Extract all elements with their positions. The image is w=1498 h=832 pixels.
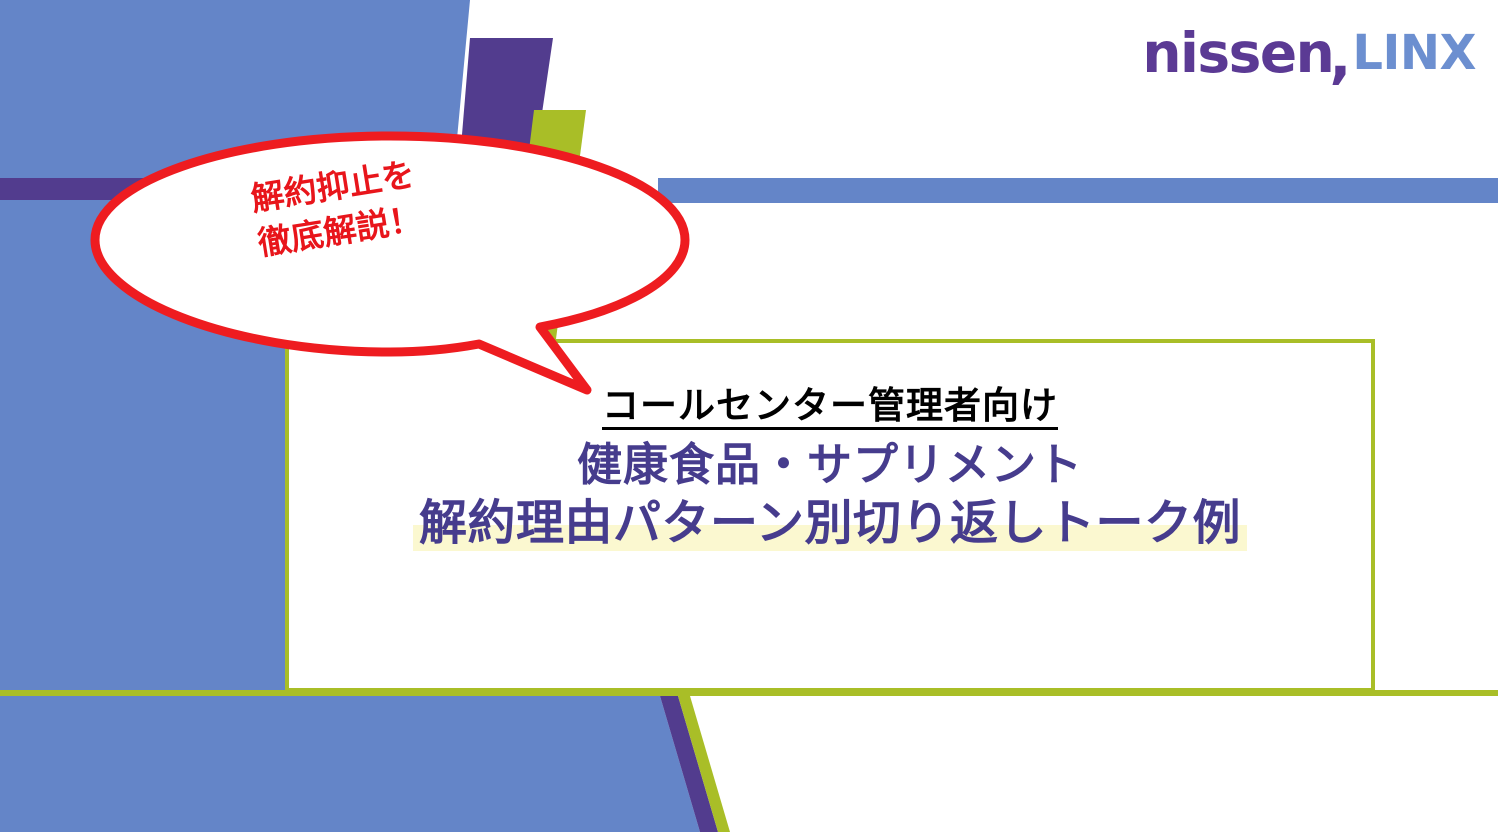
nissen-linx-logo: nissen,LINX <box>1086 22 1476 84</box>
title-line-main: 解約理由パターン別切り返しトーク例 <box>419 495 1241 551</box>
logo-comma-mark: , <box>1329 28 1351 86</box>
logo-word-linx: LINX <box>1352 29 1476 77</box>
title-line-audience: コールセンター管理者向け <box>602 385 1058 430</box>
blue-horizontal-band <box>658 178 1498 203</box>
blue-bottom-block <box>0 696 700 832</box>
logo-word-nissen: nissen <box>1142 26 1333 81</box>
title-line-category: 健康食品・サプリメント <box>577 440 1083 490</box>
title-line-main-wrapper: 解約理由パターン別切り返しトーク例 <box>419 497 1241 551</box>
slide-canvas: 解約抑止を 徹底解説！ コールセンター管理者向け 健康食品・サプリメント 解約理… <box>0 0 1498 832</box>
title-text-stack: コールセンター管理者向け 健康食品・サプリメント 解約理由パターン別切り返しトー… <box>285 339 1375 692</box>
